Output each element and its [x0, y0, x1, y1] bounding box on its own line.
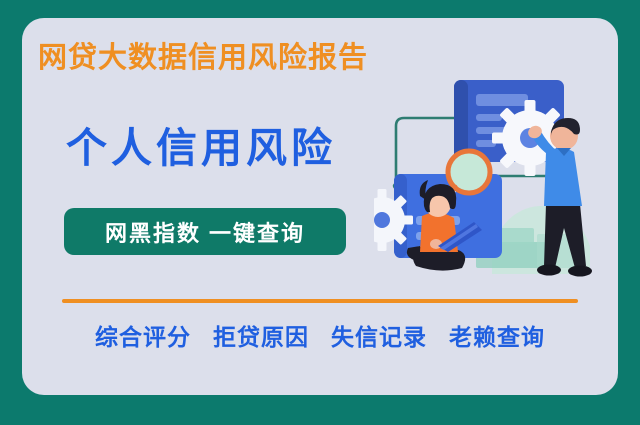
- query-cta-button[interactable]: 网黑指数 一键查询: [64, 208, 346, 255]
- query-cta-label: 网黑指数 一键查询: [105, 216, 305, 248]
- footer-link-rejection-reason[interactable]: 拒贷原因: [213, 318, 309, 352]
- poster-card: 网贷大数据信用风险报告 个人信用风险 网黑指数 一键查询 综合评分 拒贷原因 失…: [22, 18, 618, 395]
- footer-link-overall-score[interactable]: 综合评分: [95, 318, 191, 352]
- footer-link-list: 综合评分 拒贷原因 失信记录 老赖查询: [62, 318, 578, 352]
- footer-link-dishonesty-record[interactable]: 失信记录: [331, 318, 427, 352]
- page-subtitle: 个人信用风险: [66, 128, 336, 169]
- footer-link-defaulter-query[interactable]: 老赖查询: [449, 318, 545, 352]
- page-title: 网贷大数据信用风险报告: [38, 44, 368, 73]
- poster-root: 网贷大数据信用风险报告 个人信用风险 网黑指数 一键查询 综合评分 拒贷原因 失…: [0, 0, 640, 425]
- credit-risk-analysis-illustration: [374, 56, 618, 306]
